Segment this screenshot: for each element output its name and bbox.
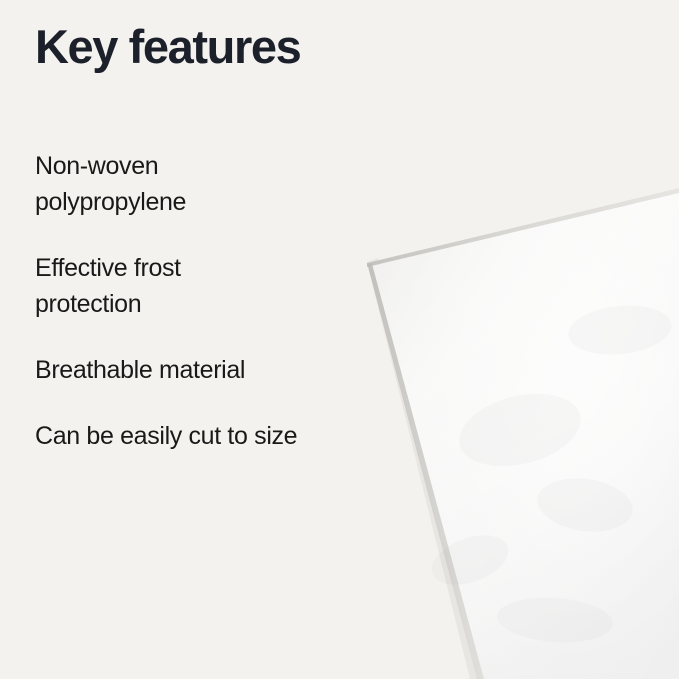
sheet-edge-shadow [367,258,492,679]
page-title: Key features [35,22,300,71]
sheet-left-edge [367,263,484,679]
feature-item-can-be-easily-cut-to-size: Can be easily cut to size [35,418,365,454]
sheet-corner-shading [367,188,679,679]
fabric-texture [425,301,674,646]
features-list: Non-woven polypropylene Effective frost … [35,148,365,454]
sheet-sheen [367,188,679,679]
key-features-card: Key features Non-woven polypropylene Eff… [0,0,679,679]
sheet-body [367,188,679,679]
sheet-top-edge [367,188,679,267]
feature-item-non-woven-polypropylene: Non-woven polypropylene [35,148,250,220]
feature-item-effective-frost-protection: Effective frost protection [35,250,250,322]
feature-item-breathable-material: Breathable material [35,352,365,388]
